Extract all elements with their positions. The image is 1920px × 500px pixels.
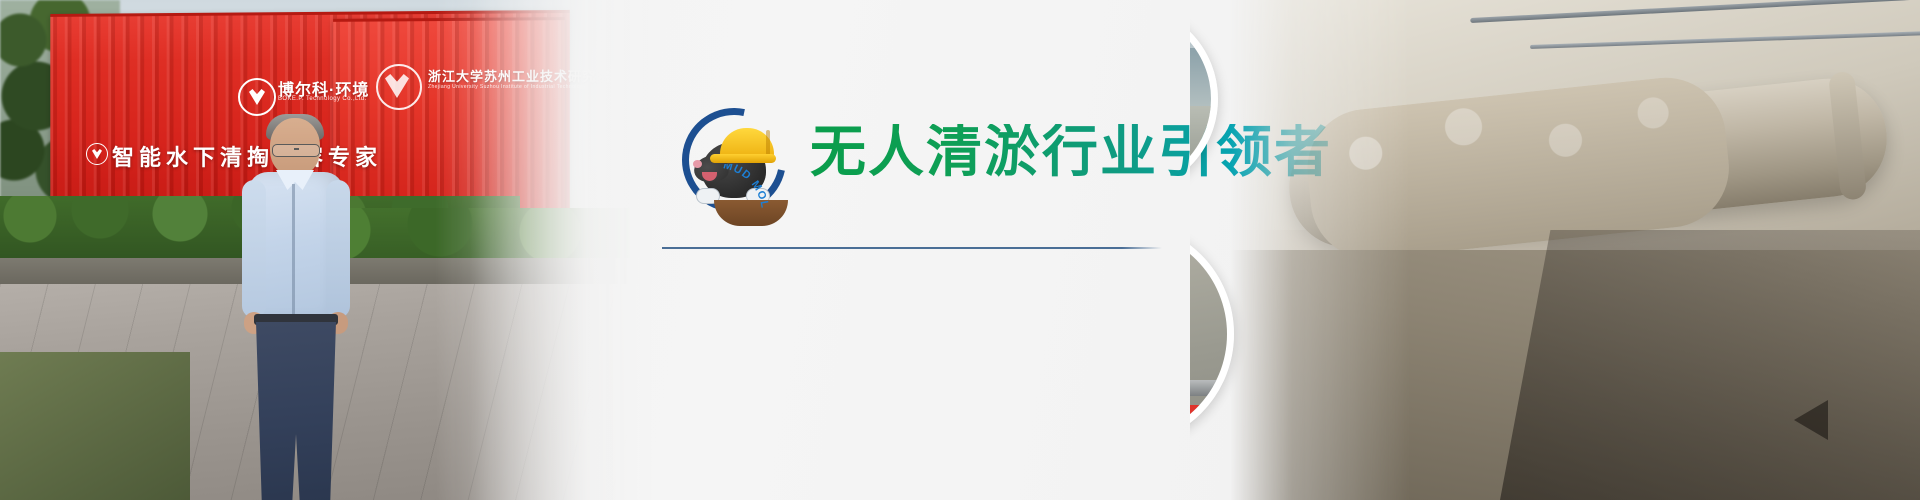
mud-mole-logo: MUD MOLE xyxy=(682,108,786,212)
container-partner-seal-icon xyxy=(376,64,422,110)
basin-water xyxy=(1190,11,1211,113)
container-slogan-icon xyxy=(86,143,108,165)
auger-screw xyxy=(1190,405,1219,435)
left-photo: 博尔科·环境 BOKE.P. Technology Co.,Ltd. 浙江大学苏… xyxy=(0,0,660,500)
pipe-photo-shadow-wedge xyxy=(1500,230,1920,500)
promo-banner: 博尔科·环境 BOKE.P. Technology Co.,Ltd. 浙江大学苏… xyxy=(0,0,1920,500)
logo-ring-text-label: MUD MOLE xyxy=(718,164,771,210)
container-brand-logo-icon xyxy=(238,78,276,116)
grass-strip xyxy=(0,352,190,500)
operator-photo-inner xyxy=(1190,11,1211,187)
dredging-robot-photo xyxy=(1190,222,1234,446)
mole-nose xyxy=(693,160,702,168)
center-content: MUD MOLE 无人清淤行业引领者 xyxy=(660,0,1260,500)
figure-shirt-placket xyxy=(292,184,295,314)
hard-hat-brim xyxy=(710,154,776,163)
basin-edge xyxy=(1190,106,1211,187)
container-brand-name-en: BOKE.P. Technology Co.,Ltd. xyxy=(278,96,367,102)
auger-housing xyxy=(1190,380,1219,396)
robot-photo-inner xyxy=(1190,229,1227,439)
pipe-flange-ring xyxy=(1828,71,1867,201)
discharge-pipe-photo xyxy=(1230,0,1920,500)
engineer-figure xyxy=(242,118,352,448)
arrow-icon xyxy=(1794,400,1828,440)
right-photo-group xyxy=(1190,0,1920,500)
hard-hat-rib xyxy=(766,130,770,156)
figure-right-arm xyxy=(326,180,350,318)
left-photo-fade-overlay xyxy=(470,0,660,500)
title-divider xyxy=(662,247,1162,249)
figure-glasses xyxy=(272,144,320,157)
logo-ring-text: MUD MOLE xyxy=(718,164,788,216)
figure-left-arm xyxy=(242,180,266,318)
operator-photo xyxy=(1190,4,1218,194)
